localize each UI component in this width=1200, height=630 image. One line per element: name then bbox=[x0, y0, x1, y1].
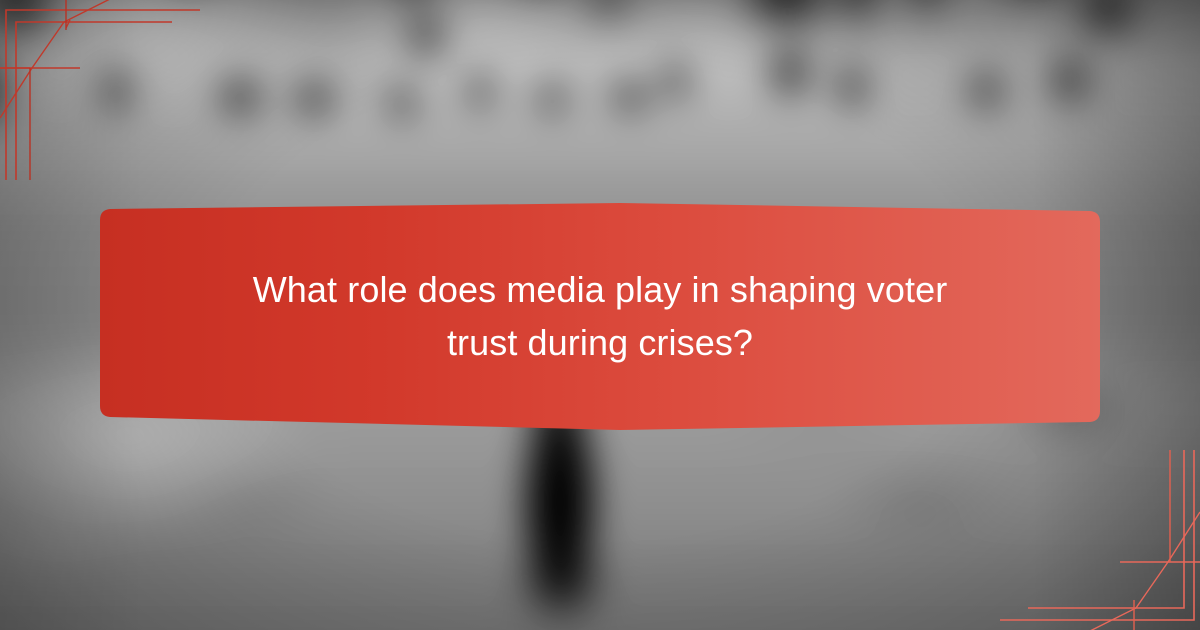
question-text-container: What role does media play in shaping vot… bbox=[100, 203, 1100, 431]
question-text: What role does media play in shaping vot… bbox=[230, 264, 970, 369]
share-card-canvas: What role does media play in shaping vot… bbox=[0, 0, 1200, 630]
question-card: What role does media play in shaping vot… bbox=[100, 203, 1100, 431]
